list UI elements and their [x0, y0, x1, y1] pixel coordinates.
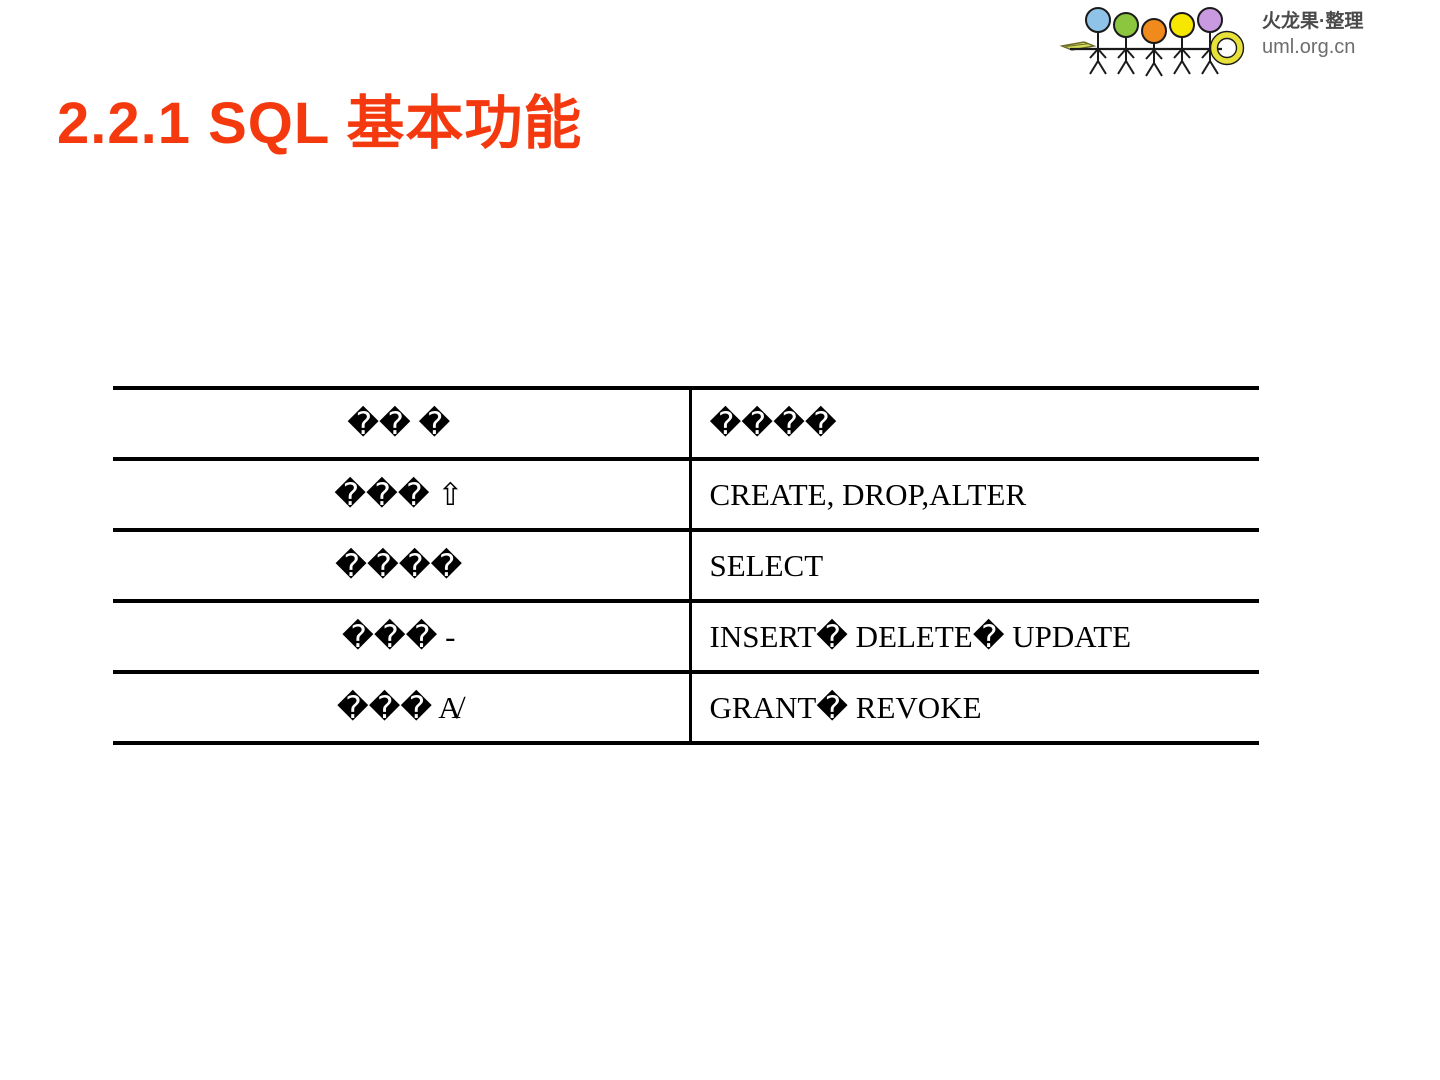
stick-figure-4: [1174, 32, 1190, 74]
table-row: ��� - INSERT� DELETE� UPDATE: [113, 601, 1259, 672]
brand-name-cn: 火龙果·整理: [1262, 10, 1432, 34]
table-header-category: �� �: [113, 388, 690, 459]
ring-icon: [1211, 32, 1244, 65]
table-row: ��� ⇧ CREATE, DROP,ALTER: [113, 459, 1259, 530]
row-category-query: ����: [113, 530, 690, 601]
sql-function-table: �� � ���� ��� ⇧ CREATE, DROP,ALTER ���� …: [113, 386, 1259, 745]
stick-figure-2: [1118, 32, 1134, 74]
row-category-ddl: ��� ⇧: [113, 459, 690, 530]
table-row: ��� A̸ GRANT� REVOKE: [113, 672, 1259, 743]
table-header-statement: ����: [690, 388, 1259, 459]
brand-logo-artwork: [1050, 6, 1260, 78]
row-statements-dcl: GRANT� REVOKE: [690, 672, 1259, 743]
brand-url: uml.org.cn: [1262, 34, 1432, 60]
stick-figure-1: [1090, 28, 1106, 74]
row-statements-ddl: CREATE, DROP,ALTER: [690, 459, 1259, 530]
table-row: ���� SELECT: [113, 530, 1259, 601]
table-header-row: �� � ����: [113, 388, 1259, 459]
brand-logo-text: 火龙果·整理 uml.org.cn: [1262, 10, 1432, 60]
page-title: 2.2.1 SQL 基本功能: [57, 88, 582, 160]
row-category-dml: ��� -: [113, 601, 690, 672]
row-category-dcl: ��� A̸: [113, 672, 690, 743]
row-statements-query: SELECT: [690, 530, 1259, 601]
row-statements-dml: INSERT� DELETE� UPDATE: [690, 601, 1259, 672]
brand-logo: 火龙果·整理 uml.org.cn: [1050, 6, 1430, 78]
